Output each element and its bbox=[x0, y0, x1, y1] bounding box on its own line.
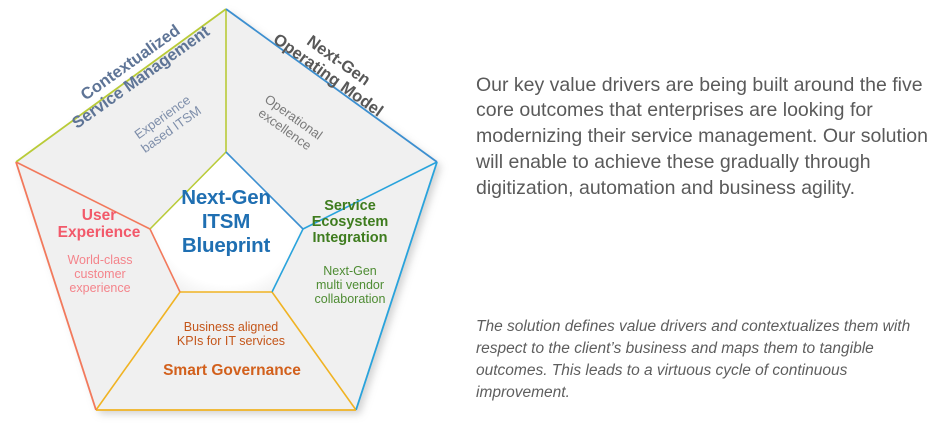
pentagon-diagram: Next-Gen ITSM Blueprint Contextualized S… bbox=[0, 0, 460, 427]
slide-canvas: Next-Gen ITSM Blueprint Contextualized S… bbox=[0, 0, 950, 427]
pentagon-svg bbox=[0, 0, 460, 427]
copy-column: Our key value drivers are being built ar… bbox=[472, 0, 938, 427]
note-paragraph: The solution defines value drivers and c… bbox=[476, 316, 918, 404]
lead-paragraph: Our key value drivers are being built ar… bbox=[476, 73, 928, 203]
